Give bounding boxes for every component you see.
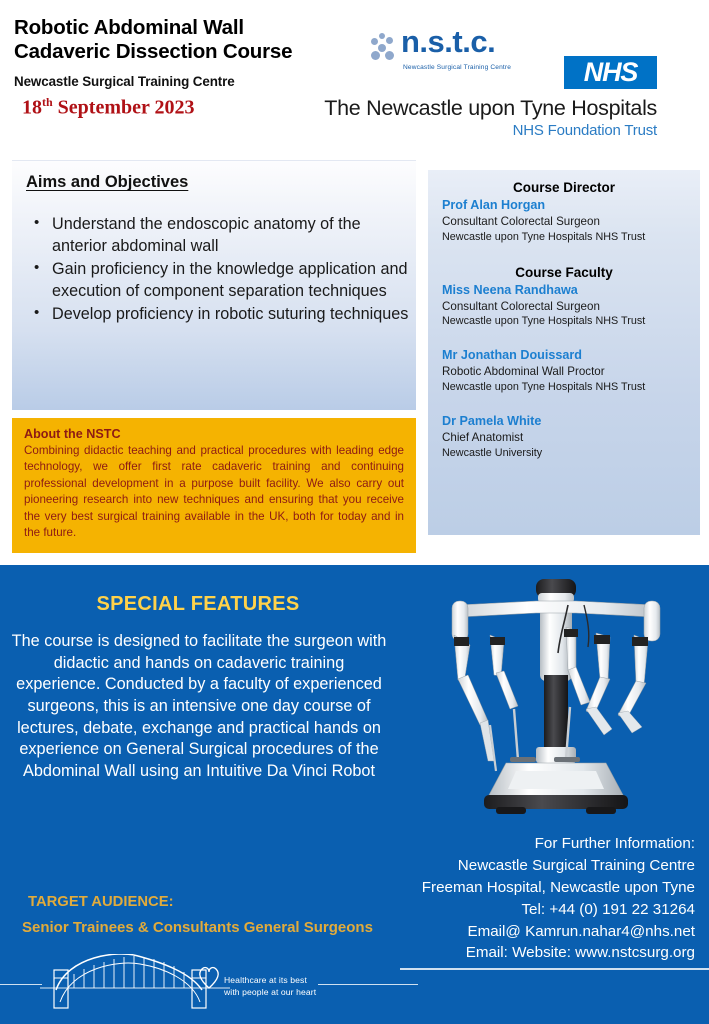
footer-divider <box>400 968 709 970</box>
poster-header: Robotic Abdominal Wall Cadaveric Dissect… <box>0 0 709 152</box>
faculty-org: Newcastle upon Tyne Hospitals NHS Trust <box>442 380 700 395</box>
about-text: Combining didactic teaching and practica… <box>24 443 404 542</box>
faculty-org: Newcastle University <box>442 446 700 461</box>
about-title: About the NSTC <box>24 427 404 441</box>
nstc-wordmark: n.s.t.c. <box>401 24 495 60</box>
faculty-name: Mr Jonathan Douissard <box>442 347 700 364</box>
list-item: Gain proficiency in the knowledge applic… <box>32 259 416 302</box>
aims-title: Aims and Objectives <box>26 173 188 192</box>
faculty-name: Dr Pamela White <box>442 413 700 430</box>
poster-footer: Healthcare at its best with people at ou… <box>0 952 709 1024</box>
date-rest: September 2023 <box>53 97 195 119</box>
course-date: 18th September 2023 <box>22 95 364 120</box>
faculty-name: Miss Neena Randhawa <box>442 282 700 299</box>
faculty-org: Newcastle upon Tyne Hospitals NHS Trust <box>442 230 700 245</box>
contact-email[interactable]: Email@ Kamrun.nahar4@nhs.net <box>395 921 695 943</box>
centre-name: Newcastle Surgical Training Centre <box>14 74 364 89</box>
nhs-logo: NHS <box>564 56 657 89</box>
special-features-text: The course is designed to facilitate the… <box>10 631 388 783</box>
contact-line: Newcastle Surgical Training Centre <box>395 855 695 877</box>
course-title-line-1: Robotic Abdominal Wall <box>14 16 364 40</box>
special-features-section: SPECIAL FEATURES The course is designed … <box>0 565 709 1024</box>
target-audience-value: Senior Trainees & Consultants General Su… <box>22 919 373 936</box>
heart-icon <box>196 964 222 990</box>
date-day: 18 <box>22 97 42 119</box>
faculty-entry: Mr Jonathan Douissard Robotic Abdominal … <box>442 347 700 395</box>
faculty-role: Consultant Colorectal Surgeon <box>442 214 700 230</box>
nhs-logo-text: NHS <box>584 57 637 88</box>
nstc-logo-subtitle: Newcastle Surgical Training Centre <box>403 64 511 71</box>
page-title: Robotic Abdominal Wall Cadaveric Dissect… <box>14 16 364 64</box>
tagline-rule-left <box>0 984 42 985</box>
faculty-entry: Prof Alan Horgan Consultant Colorectal S… <box>442 197 700 245</box>
contact-line: For Further Information: <box>395 833 695 855</box>
trust-name: The Newcastle upon Tyne Hospitals <box>324 96 657 121</box>
contact-line: Freeman Hospital, Newcastle upon Tyne <box>395 877 695 899</box>
faculty-panel: Course Director Prof Alan Horgan Consult… <box>428 170 700 535</box>
da-vinci-robot-image <box>418 575 694 825</box>
faculty-role: Chief Anatomist <box>442 430 700 446</box>
course-faculty-heading: Course Faculty <box>428 265 700 280</box>
aims-and-objectives-box: Aims and Objectives Understand the endos… <box>12 160 416 410</box>
about-nstc-box: About the NSTC Combining didactic teachi… <box>12 418 416 553</box>
tagline-rule-right <box>318 984 418 985</box>
aims-list: Understand the endoscopic anatomy of the… <box>32 214 416 326</box>
list-item: Understand the endoscopic anatomy of the… <box>32 214 416 257</box>
list-item: Develop proficiency in robotic suturing … <box>32 304 416 326</box>
tagline-line-1: Healthcare at its best <box>224 974 316 986</box>
nstc-dots-icon <box>371 33 399 65</box>
faculty-role: Robotic Abdominal Wall Proctor <box>442 364 700 380</box>
special-features-title: SPECIAL FEATURES <box>0 593 396 616</box>
faculty-role: Consultant Colorectal Surgeon <box>442 299 700 315</box>
poster-root: Robotic Abdominal Wall Cadaveric Dissect… <box>0 0 709 1024</box>
faculty-name: Prof Alan Horgan <box>442 197 700 214</box>
nstc-logo: n.s.t.c. Newcastle Surgical Training Cen… <box>371 26 516 80</box>
faculty-entry: Dr Pamela White Chief Anatomist Newcastl… <box>442 413 700 461</box>
trust-subtitle: NHS Foundation Trust <box>513 122 657 139</box>
target-audience-label: TARGET AUDIENCE: <box>28 894 174 910</box>
contact-block: For Further Information: Newcastle Surgi… <box>395 833 695 964</box>
course-title-line-2: Cadaveric Dissection Course <box>14 40 364 64</box>
faculty-entry: Miss Neena Randhawa Consultant Colorecta… <box>442 282 700 330</box>
date-suffix: th <box>42 95 53 109</box>
trust-tagline: Healthcare at its best with people at ou… <box>224 974 316 999</box>
tagline-line-2: with people at our heart <box>224 986 316 998</box>
faculty-org: Newcastle upon Tyne Hospitals NHS Trust <box>442 314 700 329</box>
contact-phone: Tel: +44 (0) 191 22 31264 <box>395 899 695 921</box>
title-block: Robotic Abdominal Wall Cadaveric Dissect… <box>14 16 364 120</box>
course-director-heading: Course Director <box>428 180 700 195</box>
